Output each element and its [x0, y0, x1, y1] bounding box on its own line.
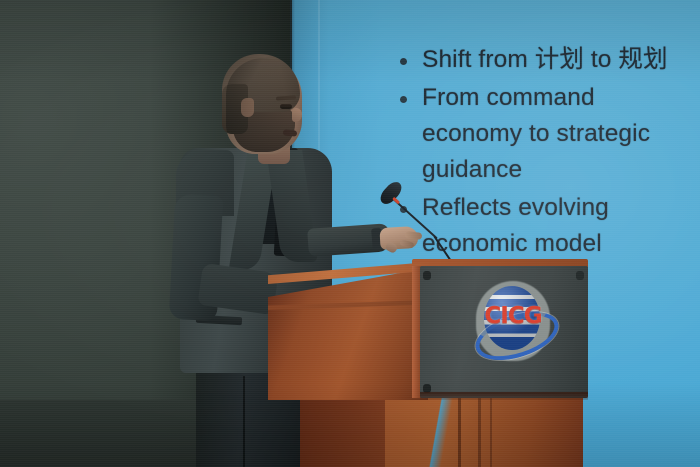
face-shadow [226, 58, 302, 154]
podium-panel-shadow [420, 392, 588, 400]
panel-fastener-icon [423, 271, 431, 280]
cicg-logo: CICG [472, 281, 554, 363]
presentation-photo: Shift from 计划 to 规划 From command economy… [0, 0, 700, 467]
podium-base-groove [490, 392, 492, 467]
panel-fastener-icon [576, 271, 584, 280]
trouser-seam [243, 376, 245, 467]
podium-base-groove [478, 392, 481, 467]
podium-base-groove [458, 392, 461, 467]
cicg-logo-text: CICG [480, 305, 546, 328]
podium-base-left-face [300, 392, 385, 467]
